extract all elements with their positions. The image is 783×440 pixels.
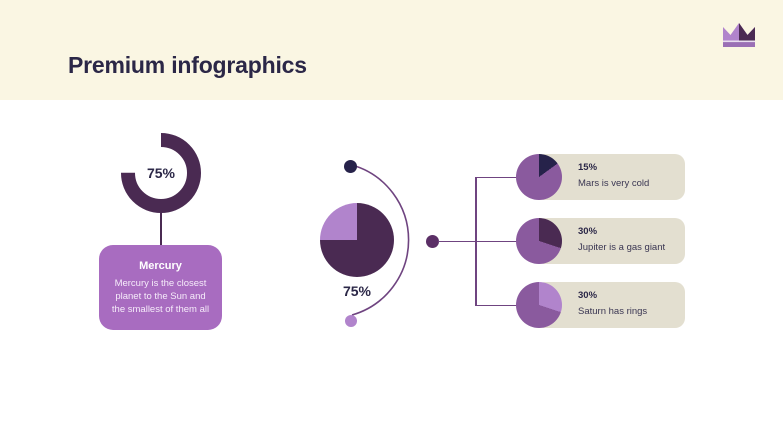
connector-hub-horizontal <box>438 241 476 243</box>
donut-value-label: 75% <box>118 130 204 216</box>
list-item-text: 30% Saturn has rings <box>578 290 688 317</box>
donut-chart-mercury: 75% <box>118 130 204 216</box>
list-pie-chart <box>516 154 562 200</box>
arc-dot-bottom <box>345 315 357 327</box>
mercury-card-description: Mercury is the closest planet to the Sun… <box>109 277 212 316</box>
list-item-text: 15% Mars is very cold <box>578 162 688 189</box>
header-band <box>0 0 783 100</box>
list-item-percent: 30% <box>578 226 688 237</box>
slide-canvas: Premium infographics 75% Mercury Mercury… <box>0 0 783 440</box>
crown-icon <box>722 19 756 49</box>
list-pie-chart <box>516 282 562 328</box>
list-pie-chart <box>516 218 562 264</box>
list-item-percent: 30% <box>578 290 688 301</box>
mercury-card-title: Mercury <box>139 260 182 272</box>
arc-dot-top <box>344 160 357 173</box>
list-item-label: Jupiter is a gas giant <box>578 242 688 253</box>
page-title: Premium infographics <box>68 52 307 79</box>
list-item-text: 30% Jupiter is a gas giant <box>578 226 688 253</box>
list-item-percent: 15% <box>578 162 688 173</box>
center-pie-chart <box>320 203 394 277</box>
center-pie-value-label: 75% <box>320 283 394 299</box>
mercury-card[interactable]: Mercury Mercury is the closest planet to… <box>99 245 222 330</box>
list-item-label: Mars is very cold <box>578 178 688 189</box>
list-item-label: Saturn has rings <box>578 306 688 317</box>
